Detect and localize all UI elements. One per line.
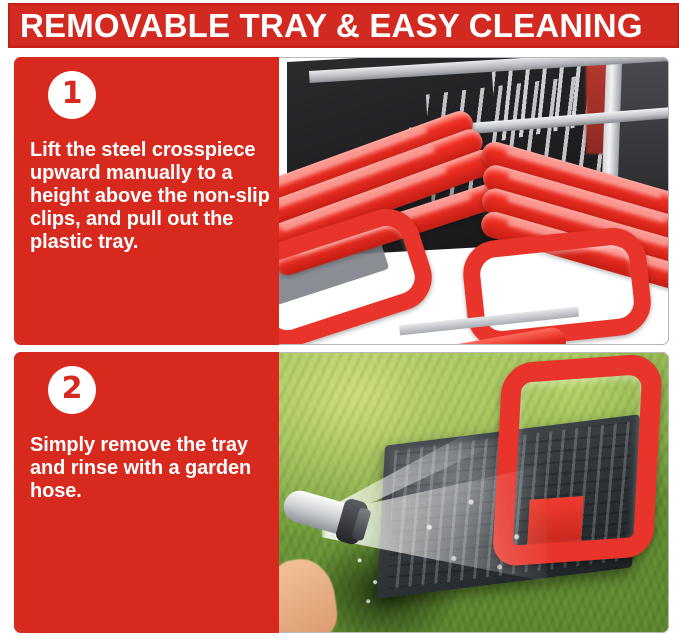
step-panel-1: 1 Lift the steel crosspiece upward manua… <box>14 57 669 345</box>
step-2-line-1: Simply remove the tray <box>30 434 271 457</box>
step-1-photo-stage <box>279 58 668 344</box>
step-1-photo <box>279 57 669 345</box>
step-2-text-block: 2 Simply remove the tray and rinse with … <box>14 352 279 633</box>
step-2-instruction: Simply remove the tray and rinse with a … <box>22 434 273 503</box>
step-1-number-badge: 1 <box>48 71 96 119</box>
step-2-line-3: hose. <box>30 480 271 503</box>
step-2-number: 2 <box>62 374 83 404</box>
step-1-line-4: clips, and pull out the <box>30 208 271 231</box>
step-2-photo-stage <box>279 353 668 632</box>
red-handle-right <box>460 225 654 344</box>
step-2-number-badge: 2 <box>48 366 96 414</box>
step-1-line-1: Lift the steel crosspiece <box>30 139 271 162</box>
step-1-line-3: height above the non-slip <box>30 185 271 208</box>
step-2-photo <box>279 352 669 633</box>
step-1-instruction: Lift the steel crosspiece upward manuall… <box>22 139 273 254</box>
water-drips <box>341 548 403 609</box>
infographic-page: REMOVABLE TRAY & EASY CLEANING 1 Lift th… <box>0 0 679 639</box>
step-1-text-block: 1 Lift the steel crosspiece upward manua… <box>14 57 279 345</box>
step-1-number: 1 <box>62 79 83 109</box>
step-1-line-2: upward manually to a <box>30 162 271 185</box>
step-1-line-5: plastic tray. <box>30 231 271 254</box>
water-splash-droplets <box>390 471 572 592</box>
step-2-line-2: and rinse with a garden <box>30 457 271 480</box>
step-panel-2: 2 Simply remove the tray and rinse with … <box>14 352 669 633</box>
header-banner: REMOVABLE TRAY & EASY CLEANING <box>8 3 679 48</box>
page-title: REMOVABLE TRAY & EASY CLEANING <box>10 9 643 42</box>
